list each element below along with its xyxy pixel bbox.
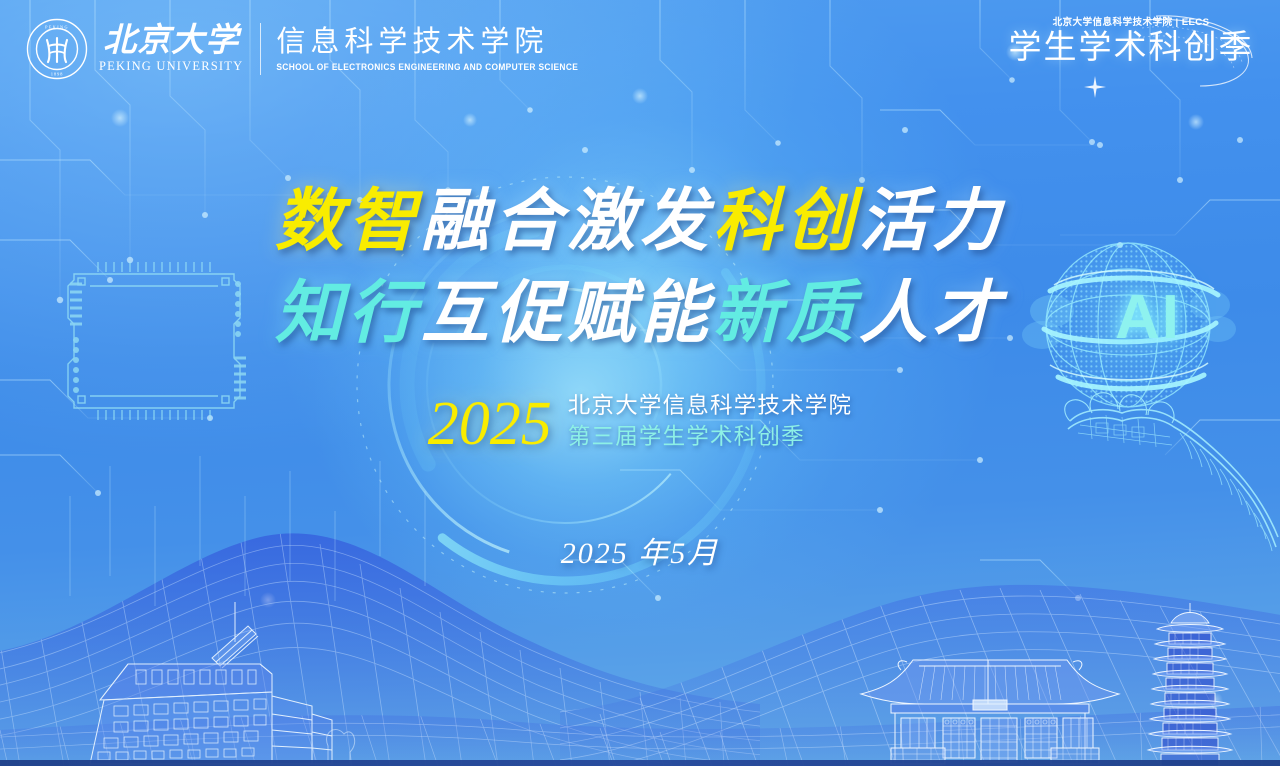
pku-name-en: PEKING UNIVERSITY: [99, 59, 243, 74]
subtitle-line-2: 第三届学生学术科创季: [568, 421, 852, 452]
swoosh-decoration-icon: [1138, 12, 1258, 90]
peking-university-seal-icon: PEKING 1898: [26, 18, 88, 80]
building-bo-ya-tower: [60, 596, 360, 766]
eecs-wordmark: 信息科学技术学院 SCHOOL OF ELECTRONICS ENGINEERI…: [276, 26, 578, 71]
title-seg-2-2: 互促赋能: [421, 275, 713, 351]
title-line-2: 知行互促赋能新质人才: [0, 270, 1280, 356]
title-seg-1-1: 数智: [275, 183, 421, 259]
subtitle-block: 2025 北京大学信息科学技术学院 第三届学生学术科创季: [0, 390, 1280, 452]
sparkle-icon: [1084, 76, 1106, 98]
title-seg-1-2: 融合激发: [421, 183, 713, 259]
svg-text:PEKING: PEKING: [45, 25, 69, 30]
logo-divider: [260, 23, 261, 75]
pku-name-cn: 北京大学: [103, 24, 239, 59]
school-name-en: SCHOOL OF ELECTRONICS ENGINEERING AND CO…: [276, 61, 578, 72]
event-date: 2025 年5月: [0, 528, 1280, 572]
pku-eecs-logo-lockup: PEKING 1898 北京大学 PEKING UNIVERSITY 信息科学技…: [26, 18, 578, 80]
event-logo: 北京大学信息科学技术学院 | EECS 学生学术科创季: [1008, 14, 1254, 88]
title-seg-1-4: 活力: [859, 183, 1005, 259]
subtitle-line-1: 北京大学信息科学技术学院: [568, 390, 852, 421]
main-title: 数智融合激发科创活力 知行互促赋能新质人才: [0, 178, 1280, 356]
pku-wordmark: 北京大学 PEKING UNIVERSITY: [99, 24, 243, 75]
header-bar: PEKING 1898 北京大学 PEKING UNIVERSITY 信息科学技…: [0, 0, 1280, 96]
school-name-cn: 信息科学技术学院: [276, 26, 578, 58]
subtitle-lines: 北京大学信息科学技术学院 第三届学生学术科创季: [568, 390, 852, 452]
title-seg-1-3: 科创: [713, 183, 859, 259]
building-west-gate-hall: [855, 636, 1125, 766]
building-boya-pagoda: [1135, 601, 1245, 766]
poster-canvas: AI PEKING 1898 北京大学 PEKING UNIVERSITY 信: [0, 0, 1280, 766]
year-2025: 2025: [428, 393, 552, 455]
title-seg-2-1: 知行: [275, 275, 421, 351]
title-line-1: 数智融合激发科创活力: [0, 178, 1280, 264]
title-seg-2-4: 人才: [859, 275, 1005, 351]
bottom-strip: [0, 760, 1280, 766]
title-seg-2-3: 新质: [713, 275, 859, 351]
svg-text:1898: 1898: [51, 72, 63, 77]
